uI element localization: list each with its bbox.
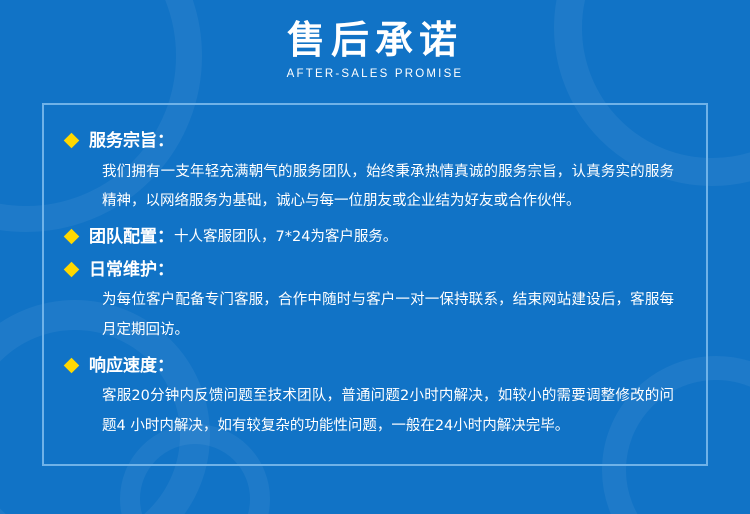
section-body: 为每位客户配备专门客服，合作中随时与客户一对一保持联系，结束网站建设后，客服每月… bbox=[66, 286, 680, 345]
section-response-speed: 响应速度： 客服20分钟内反馈问题至技术团队，普通问题2小时内解决，如较小的需要… bbox=[66, 354, 680, 442]
diamond-bullet-icon bbox=[64, 261, 80, 277]
section-heading-row: 服务宗旨： bbox=[66, 129, 680, 154]
section-heading-row: 日常维护： bbox=[66, 258, 680, 283]
section-team-setup: 团队配置： 十人客服团队，7*24为客户服务。 bbox=[66, 225, 680, 250]
promise-page: 售后承诺 AFTER-SALES PROMISE 服务宗旨： 我们拥有一支年轻充… bbox=[0, 0, 750, 514]
section-body: 我们拥有一支年轻充满朝气的服务团队，始终秉承热情真诚的服务宗旨，认真务实的服务精… bbox=[66, 158, 680, 217]
section-body: 客服20分钟内反馈问题至技术团队，普通问题2小时内解决，如较小的需要调整修改的问… bbox=[66, 382, 680, 441]
diamond-bullet-icon bbox=[64, 229, 80, 245]
diamond-bullet-icon bbox=[64, 133, 80, 149]
section-heading: 日常维护： bbox=[89, 258, 174, 283]
section-heading: 团队配置： bbox=[89, 225, 174, 250]
section-daily-maintenance: 日常维护： 为每位客户配备专门客服，合作中随时与客户一对一保持联系，结束网站建设… bbox=[66, 258, 680, 346]
page-title: 售后承诺 bbox=[0, 16, 750, 64]
section-heading-row: 团队配置： 十人客服团队，7*24为客户服务。 bbox=[66, 225, 680, 250]
page-header: 售后承诺 AFTER-SALES PROMISE bbox=[0, 0, 750, 80]
section-heading: 响应速度： bbox=[89, 354, 174, 379]
diamond-bullet-icon bbox=[64, 358, 80, 374]
section-inline-text: 十人客服团队，7*24为客户服务。 bbox=[174, 225, 397, 246]
section-heading-row: 响应速度： bbox=[66, 354, 680, 379]
content-panel: 服务宗旨： 我们拥有一支年轻充满朝气的服务团队，始终秉承热情真诚的服务宗旨，认真… bbox=[42, 103, 708, 466]
page-subtitle: AFTER-SALES PROMISE bbox=[0, 68, 750, 80]
section-service-purpose: 服务宗旨： 我们拥有一支年轻充满朝气的服务团队，始终秉承热情真诚的服务宗旨，认真… bbox=[66, 129, 680, 217]
section-heading: 服务宗旨： bbox=[89, 129, 174, 154]
